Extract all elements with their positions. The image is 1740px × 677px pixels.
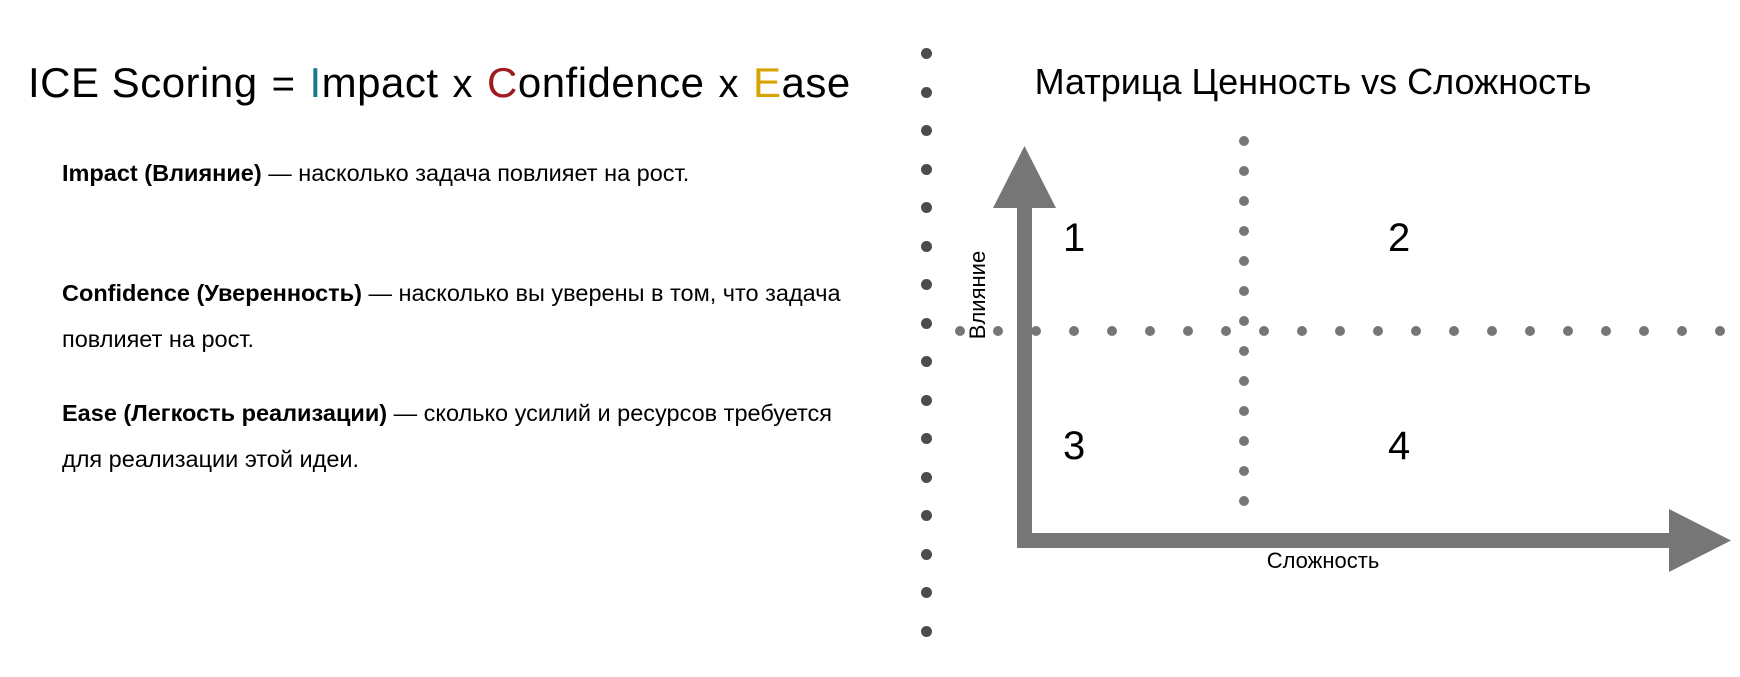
- panel-divider-dot: [921, 48, 932, 59]
- quadrant-divider-dot: [1411, 326, 1421, 336]
- horizontal-quadrant-divider: [955, 326, 1740, 336]
- quadrant-divider-dot: [1239, 136, 1249, 146]
- quadrant-divider-dot: [1183, 326, 1193, 336]
- value-vs-complexity-matrix-panel: Матрица Ценность vs Сложность 1 2 3 4 Вл…: [933, 0, 1740, 677]
- panel-divider-dot: [921, 549, 932, 560]
- matrix-plot-area: 1 2 3 4 Влияние Сложность: [933, 130, 1740, 590]
- panel-divider-dot: [921, 626, 932, 637]
- quadrant-divider-dot: [1525, 326, 1535, 336]
- formula-label: ICE Scoring: [28, 59, 258, 106]
- quadrant-divider-dot: [1239, 346, 1249, 356]
- axis-corner-joint: [1017, 533, 1032, 548]
- formula-term-ease: Ease: [753, 59, 851, 106]
- panel-divider-dot: [921, 202, 932, 213]
- formula-impact-rest: mpact: [322, 59, 439, 106]
- quadrant-divider-dot: [1335, 326, 1345, 336]
- x-axis-arrowhead-icon: [1669, 509, 1731, 572]
- panel-divider-dot: [921, 587, 932, 598]
- formula-term-impact: Impact: [309, 59, 438, 106]
- quadrant-divider-dot: [1297, 326, 1307, 336]
- y-axis-arrowhead-icon: [993, 146, 1056, 208]
- ice-formula-heading: ICE Scoring=ImpactxConfidencexEase: [28, 62, 865, 104]
- formula-ease-rest: ase: [782, 59, 851, 106]
- definition-ease: Ease (Легкость реализации) — сколько уси…: [62, 390, 852, 482]
- definition-impact-term: Impact (Влияние): [62, 160, 262, 186]
- panel-divider-dot: [921, 125, 932, 136]
- quadrant-divider-dot: [1239, 496, 1249, 506]
- quadrant-divider-dot: [1031, 326, 1041, 336]
- y-axis-label: Влияние: [965, 240, 991, 350]
- formula-impact-initial: I: [309, 59, 321, 106]
- panel-divider-dot: [921, 318, 932, 329]
- quadrant-divider-dot: [1239, 436, 1249, 446]
- quadrant-divider-dot: [1239, 286, 1249, 296]
- definition-confidence: Confidence (Уверенность) — насколько вы …: [62, 270, 852, 362]
- quadrant-divider-dot: [1563, 326, 1573, 336]
- definition-confidence-term: Confidence (Уверенность): [62, 280, 362, 306]
- matrix-axes: [933, 130, 1740, 590]
- quadrant-divider-dot: [1601, 326, 1611, 336]
- formula-multiply-2: x: [719, 62, 740, 106]
- x-axis-shaft: [1017, 533, 1677, 548]
- panel-divider-dot: [921, 472, 932, 483]
- quadrant-divider-dot: [1259, 326, 1269, 336]
- quadrant-divider-dot: [1221, 326, 1231, 336]
- quadrant-divider-dot: [1639, 326, 1649, 336]
- formula-ease-initial: E: [753, 59, 782, 106]
- quadrant-divider-dot: [1239, 406, 1249, 416]
- panel-divider-dot: [921, 433, 932, 444]
- quadrant-divider-dot: [1107, 326, 1117, 336]
- ice-scoring-panel: ICE Scoring=ImpactxConfidencexEase Impac…: [0, 0, 900, 677]
- quadrant-divider-dot: [1373, 326, 1383, 336]
- definition-impact: Impact (Влияние) — насколько задача повл…: [62, 150, 852, 196]
- panel-divider-dot: [921, 356, 932, 367]
- formula-equals: =: [272, 62, 296, 106]
- quadrant-divider-dot: [1487, 326, 1497, 336]
- quadrant-label-3: 3: [1063, 426, 1085, 466]
- quadrant-divider-dot: [1239, 226, 1249, 236]
- panel-divider-dot: [921, 279, 932, 290]
- x-axis-label: Сложность: [1083, 548, 1563, 574]
- quadrant-divider-dot: [1239, 166, 1249, 176]
- panel-divider-dot: [921, 510, 932, 521]
- definition-ease-term: Ease (Легкость реализации): [62, 400, 387, 426]
- matrix-title: Матрица Ценность vs Сложность: [933, 62, 1693, 102]
- formula-multiply-1: x: [453, 62, 474, 106]
- quadrant-divider-dot: [1239, 256, 1249, 266]
- quadrant-divider-dot: [1239, 376, 1249, 386]
- panel-divider-dot: [921, 164, 932, 175]
- quadrant-label-4: 4: [1388, 426, 1410, 466]
- formula-confidence-initial: C: [487, 59, 518, 106]
- panel-divider-dot: [921, 395, 932, 406]
- quadrant-divider-dot: [955, 326, 965, 336]
- quadrant-divider-dot: [1145, 326, 1155, 336]
- definition-impact-body: — насколько задача повлияет на рост.: [262, 160, 690, 186]
- panel-divider-dot: [921, 87, 932, 98]
- panel-divider-dot: [921, 241, 932, 252]
- formula-term-confidence: Confidence: [487, 59, 705, 106]
- y-axis-shaft: [1017, 200, 1032, 548]
- quadrant-divider-dot: [1239, 316, 1249, 326]
- quadrant-divider-dot: [1715, 326, 1725, 336]
- quadrant-divider-dot: [1677, 326, 1687, 336]
- quadrant-divider-dot: [1239, 466, 1249, 476]
- quadrant-divider-dot: [993, 326, 1003, 336]
- formula-confidence-rest: onfidence: [518, 59, 705, 106]
- quadrant-label-1: 1: [1063, 218, 1085, 258]
- quadrant-divider-dot: [1449, 326, 1459, 336]
- panel-divider-dotted-line: [921, 48, 933, 640]
- quadrant-divider-dot: [1069, 326, 1079, 336]
- quadrant-divider-dot: [1239, 196, 1249, 206]
- quadrant-label-2: 2: [1388, 218, 1410, 258]
